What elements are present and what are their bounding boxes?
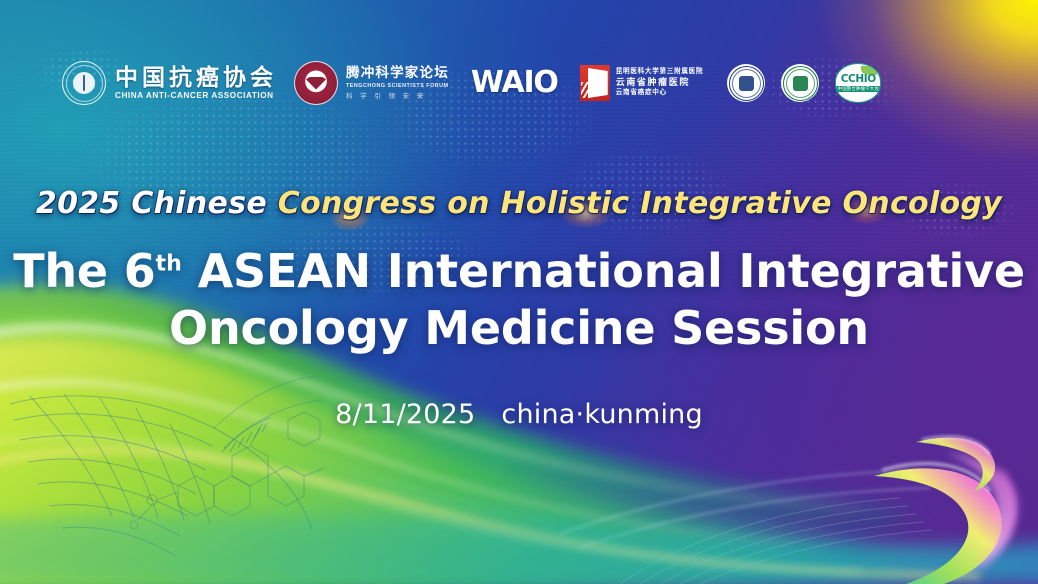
cchio-badge-icon: CCHIO 中国整合肿瘤学大会 (835, 63, 881, 103)
headline-line-1: The 6th ASEAN International Integrative (0, 243, 1038, 300)
tengchong-chinese-name: 腾冲科学家论坛 (346, 66, 449, 81)
subtitle-gold-part: Congress on Holistic Integrative Oncolog… (278, 186, 1002, 221)
sponsor-logo-bar: 中国抗癌协会 CHINA ANTI-CANCER ASSOCIATION 腾冲科… (62, 56, 881, 110)
logo-society-seal (781, 56, 819, 110)
logo-cchio: CCHIO 中国整合肿瘤学大会 (835, 56, 881, 110)
logo-waio: WAIO (471, 56, 558, 110)
logo-tengchong-scientists-forum: 腾冲科学家论坛 TENGCHONG SCIENTISTS FORUM 科 学 引… (294, 56, 449, 110)
yunnan-line-3: 昆明医科大学第三附属医院 (616, 69, 704, 76)
page-title: The 6th ASEAN International Integrative … (0, 243, 1038, 357)
tengchong-badge-icon (294, 61, 338, 105)
headline-prefix: The 6 (13, 244, 155, 298)
headline-line1-rest: ASEAN International Integrative (182, 244, 1025, 298)
logo-yunnan-cancer-hospital: 昆明医科大学第三附属医院 云南省肿瘤医院 云南省癌症中心 (580, 56, 704, 110)
caca-seal-icon (62, 61, 106, 105)
event-subtitle: 2025 Chinese Congress on Holistic Integr… (0, 186, 1038, 221)
caca-english-name: CHINA ANTI-CANCER ASSOCIATION (115, 91, 277, 100)
event-details: 8/11/2025china·kunming (0, 399, 1038, 430)
cchio-subtitle: 中国整合肿瘤学大会 (836, 86, 881, 92)
headline-ordinal-suffix: th (156, 252, 182, 277)
yunnan-line-1: 云南省肿瘤医院 (616, 78, 704, 87)
logo-university-seal (727, 56, 765, 110)
subtitle-white-part: 2025 Chinese (36, 186, 278, 221)
headline-line-2: Oncology Medicine Session (0, 300, 1038, 357)
cchio-wordmark: CCHIO (841, 74, 876, 85)
society-seal-icon (781, 64, 819, 102)
tengchong-english-name: TENGCHONG SCIENTISTS FORUM (346, 83, 449, 89)
caca-chinese-name: 中国抗癌协会 (115, 66, 277, 90)
event-date: 8/11/2025 (335, 399, 475, 430)
university-seal-icon (727, 64, 765, 102)
tengchong-tagline: 科 学 引 领 未 来 (346, 91, 449, 100)
yunnan-hospital-mark-icon (580, 65, 610, 101)
logo-china-anti-cancer-association: 中国抗癌协会 CHINA ANTI-CANCER ASSOCIATION (62, 56, 277, 110)
yunnan-line-2: 云南省癌症中心 (616, 90, 704, 97)
event-location: china·kunming (501, 399, 702, 430)
conference-banner: 中国抗癌协会 CHINA ANTI-CANCER ASSOCIATION 腾冲科… (0, 0, 1038, 584)
